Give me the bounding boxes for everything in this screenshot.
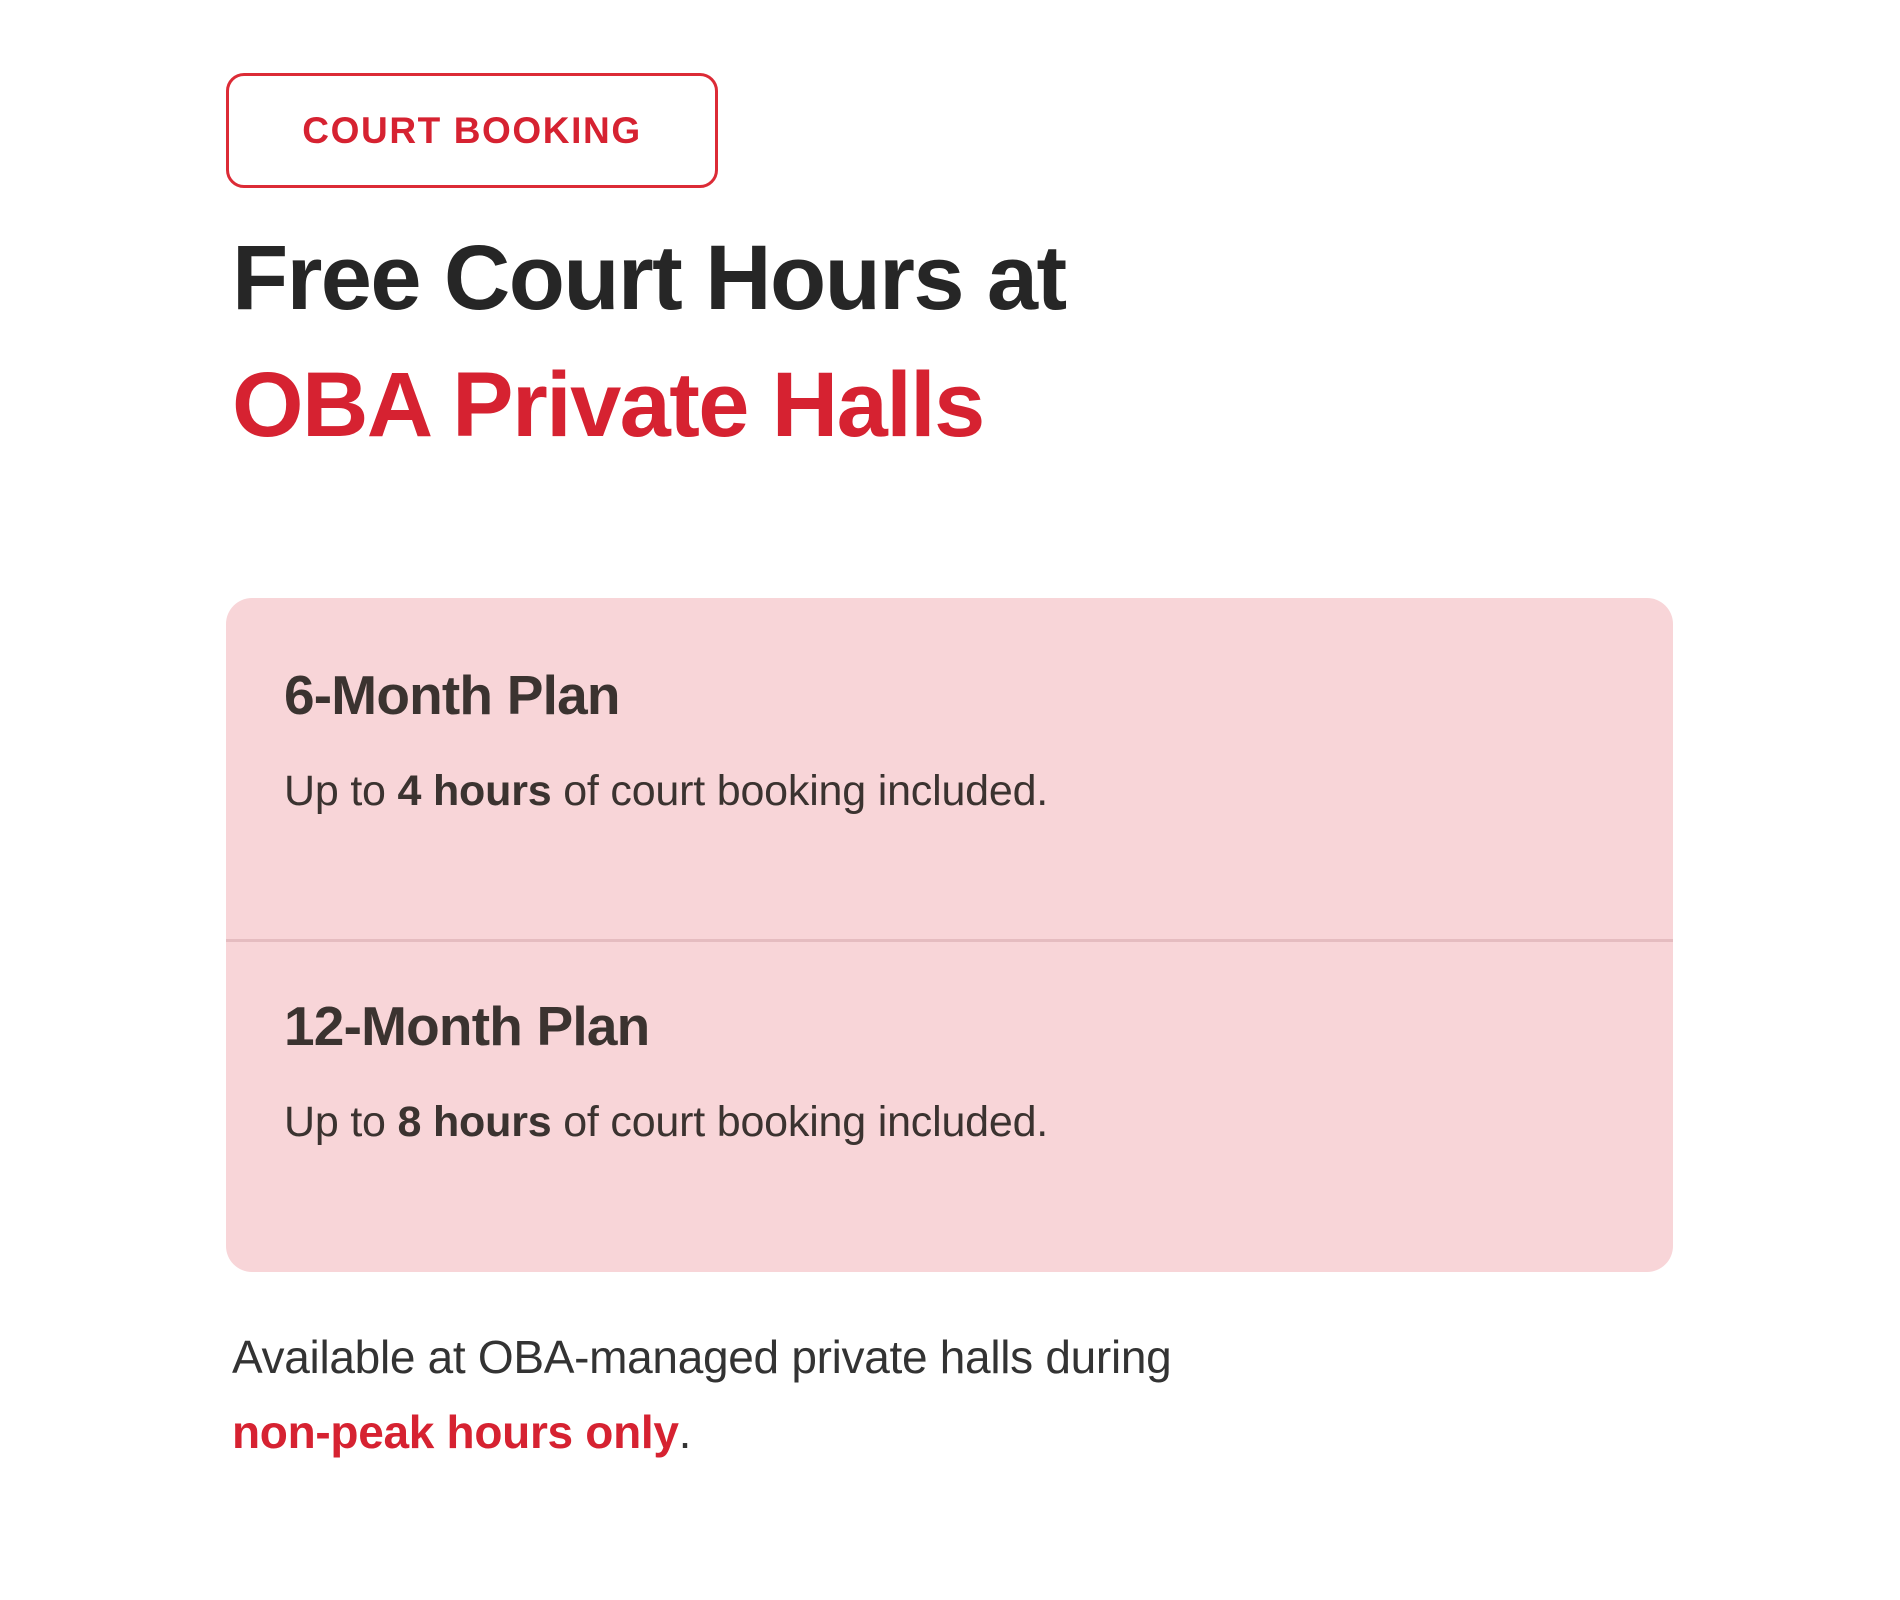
page-title-line-2: OBA Private Halls <box>232 342 1682 469</box>
footnote-line-1: Available at OBA-managed private halls d… <box>232 1320 1732 1395</box>
promo-page: COURT BOOKING Free Court Hours at OBA Pr… <box>0 0 1900 1600</box>
plan-description-prefix: Up to <box>284 767 398 815</box>
category-badge: COURT BOOKING <box>226 73 718 188</box>
plan-title: 6-Month Plan <box>284 668 620 723</box>
plan-block-6-month: 6-Month Plan Up to 4 hours of court book… <box>226 598 1673 939</box>
plans-card: 6-Month Plan Up to 4 hours of court book… <box>226 598 1673 1272</box>
footnote: Available at OBA-managed private halls d… <box>232 1320 1732 1469</box>
plan-description-hours: 8 hours <box>398 1098 552 1146</box>
footnote-period: . <box>679 1406 691 1458</box>
category-badge-label: COURT BOOKING <box>302 112 641 149</box>
plan-description: Up to 8 hours of court booking included. <box>284 1101 1048 1144</box>
plan-title: 12-Month Plan <box>284 999 649 1054</box>
plan-description: Up to 4 hours of court booking included. <box>284 770 1048 813</box>
plan-description-prefix: Up to <box>284 1098 398 1146</box>
footnote-emphasis: non-peak hours only <box>232 1406 679 1458</box>
plan-description-suffix: of court booking included. <box>551 767 1048 815</box>
footnote-line-2: non-peak hours only. <box>232 1395 1732 1470</box>
plan-description-hours: 4 hours <box>398 767 552 815</box>
page-title: Free Court Hours at OBA Private Halls <box>232 215 1682 469</box>
plan-block-12-month: 12-Month Plan Up to 8 hours of court boo… <box>226 941 1673 1272</box>
plan-description-suffix: of court booking included. <box>551 1098 1048 1146</box>
page-title-line-1: Free Court Hours at <box>232 215 1682 342</box>
